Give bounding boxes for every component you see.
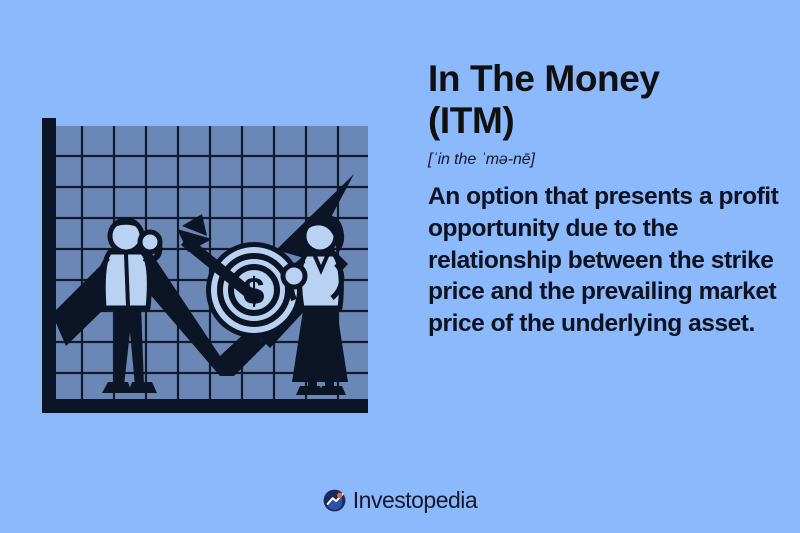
definition-card: $ — [0, 0, 800, 533]
investopedia-logo: Investopedia — [0, 489, 800, 512]
in-the-money-chart-illustration: $ — [36, 118, 376, 423]
term-title: In The Money (ITM) — [428, 58, 780, 142]
investopedia-wordmark: Investopedia — [353, 489, 477, 512]
investopedia-logo-icon — [323, 489, 346, 512]
term-text-block: In The Money (ITM) [ˈin the ˈmə-nē] An o… — [428, 58, 780, 339]
term-definition: An option that presents a profit opportu… — [428, 181, 780, 339]
term-pronunciation: [ˈin the ˈmə-nē] — [428, 151, 780, 169]
